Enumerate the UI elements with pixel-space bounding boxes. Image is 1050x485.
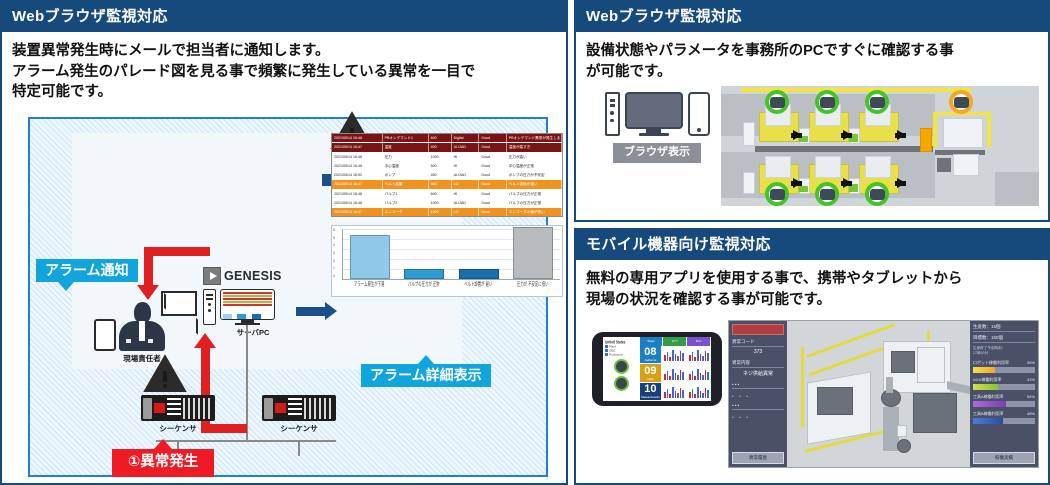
- table-cell: Good: [479, 180, 507, 188]
- table-cell: PBオンデマンド1: [383, 134, 429, 142]
- callout-alarm-detail-label: アラーム詳細表示: [370, 367, 482, 383]
- scada-flow-arrow-1: [793, 130, 802, 140]
- scada-line-view[interactable]: [721, 86, 1039, 206]
- phone-dashboard-pane: WaysQTYRun 08California09Utah10Massachus…: [640, 337, 711, 401]
- scada-status-gauge-6[interactable]: [865, 182, 889, 206]
- table-cell: 2021/05/14 16:46: [332, 199, 383, 207]
- alarm-arrow-up-head: [194, 333, 216, 348]
- table-cell: Good: [479, 171, 507, 179]
- pareto-chart: 6543210 アラーム発生が下落バルブの圧力が 正常ベルト設置が 遅い圧力が …: [331, 225, 563, 297]
- smartphone-mockup[interactable]: Untied States PlantOEEProduction WaysQTY…: [592, 332, 722, 406]
- flow-arrow-to-table: [296, 307, 326, 316]
- callout-red-tail-up: [154, 439, 172, 449]
- right-top-panel: Webブラウザ監視対応 設備状態やパラメータを事務所のPCですぐに確認する事 が…: [574, 0, 1050, 222]
- table-cell: Digital: [452, 134, 480, 142]
- table-cell: ULOAD: [452, 199, 480, 207]
- pareto-y-axis: 6543210: [333, 228, 335, 278]
- pareto-y-tick: 1: [333, 266, 335, 270]
- phone-column-headers: WaysQTYRun: [640, 337, 711, 346]
- safety-rail-top: [807, 323, 895, 358]
- table-cell: ULOAD: [452, 171, 480, 179]
- table-cell: Good: [479, 143, 507, 151]
- server-pc-label: サーバPC: [217, 327, 289, 338]
- table-cell: 温度が高すぎ: [507, 143, 562, 151]
- utilization-metric-label: ロボット稼働利用率36%: [973, 360, 1035, 366]
- utilization-metric-label: 工具A稼働利用率54%: [973, 394, 1035, 400]
- table-row[interactable]: 2021/05/14 16:46バルブ1600HIGoodバルブの圧力が正常: [332, 190, 562, 199]
- table-row[interactable]: 2021/05/14 16:47ベルト設置500LOGoodベルト張設が遅い: [332, 180, 562, 189]
- table-row[interactable]: 2021/05/14 16:48PBオンデマンド1600DigitalGoodP…: [332, 134, 562, 143]
- part-bin: [897, 439, 911, 453]
- table-cell: バルブ2: [383, 199, 429, 207]
- table-cell: バルブ1: [383, 190, 429, 198]
- utilization-progress-bar: [973, 418, 1035, 424]
- pareto-category-label: アラーム発生が下落: [346, 280, 392, 288]
- table-cell: Good: [479, 153, 507, 161]
- alarm-table-rows: 2021/05/14 16:48PBオンデマンド1600DigitalGoodP…: [332, 134, 562, 217]
- phone-mini-bar-chart: [686, 346, 711, 363]
- pareto-y-tick: 4: [333, 243, 335, 247]
- phone-legend-item: Production: [605, 353, 638, 357]
- machine-left-panel: [817, 387, 853, 415]
- table-cell: Good: [479, 208, 507, 216]
- desktop-tower-icon: [605, 92, 620, 136]
- table-cell: Good: [479, 134, 507, 142]
- phone-tile-row[interactable]: 10Massachusetts: [640, 383, 711, 401]
- alarm-row-placeholder-1: • • •: [732, 394, 784, 400]
- phone-mini-bar-chart: [661, 364, 686, 381]
- warning-triangle-icon-1: [146, 359, 184, 392]
- utilization-progress-bar: [973, 401, 1035, 407]
- person-head-icon: [134, 302, 151, 323]
- phone-legend-pane: Untied States PlantOEEProduction: [603, 337, 640, 401]
- table-cell: エンコーダの値が低い: [507, 208, 562, 216]
- network-drop-line-2: [298, 440, 300, 456]
- pareto-bar: [350, 235, 390, 279]
- scada-rail-1: [933, 114, 937, 148]
- phone-mini-bar-chart: [661, 346, 686, 363]
- callout-alarm-detail: アラーム詳細表示: [361, 364, 491, 387]
- alarm-detail-label: 異常内容: [732, 360, 784, 368]
- mobile-phone-icon: [94, 319, 116, 351]
- right-column: Webブラウザ監視対応 設備状態やパラメータを事務所のPCですぐに確認する事 が…: [574, 0, 1050, 485]
- callout-detail-tail-up: [418, 355, 434, 364]
- table-cell: 2021/05/14 16:47: [332, 180, 383, 188]
- phone-tile-row[interactable]: 09Utah: [640, 364, 711, 382]
- workpiece: [897, 425, 907, 437]
- genesis-logo-text: GENESIS: [224, 269, 282, 283]
- scada-right-structure: [995, 172, 1039, 206]
- scada-flow-arrow-3: [897, 130, 906, 140]
- pareto-y-tick: 2: [333, 259, 335, 263]
- table-cell: 2021/05/14 16:46: [332, 190, 383, 198]
- phone-mini-bar-chart: [661, 383, 686, 400]
- utilization-progress-bar: [973, 367, 1035, 373]
- plc-unit-2: [262, 395, 336, 421]
- table-cell: 圧力が高い: [507, 153, 562, 161]
- alarm-table[interactable]: 2021/05/14 16:48PBオンデマンド1600DigitalGoodP…: [331, 133, 563, 217]
- phone-tile-value: 09Utah: [640, 364, 661, 381]
- pareto-y-tick: 0: [333, 274, 335, 278]
- scada-conveyor-main: [755, 146, 933, 152]
- alarm-code-value: 373: [732, 349, 784, 355]
- table-cell: 2021/05/14 16:46: [332, 162, 383, 170]
- table-cell: 1000: [429, 153, 452, 161]
- alarm-arrow-down-head: [137, 285, 159, 300]
- scada-status-gauge-2[interactable]: [815, 90, 839, 114]
- table-row[interactable]: 2021/05/14 16:47温度400ULOADGood温度が高すぎ: [332, 143, 562, 152]
- alarm-arrow-down-stem: [144, 247, 153, 287]
- table-cell: Good: [479, 190, 507, 198]
- monitor-display-icon: [625, 92, 683, 136]
- robot-arm-column: [886, 377, 893, 393]
- factory-3d-canvas[interactable]: [787, 321, 970, 467]
- table-cell: Good: [479, 162, 507, 170]
- alarm-row-placeholder-2: • • •: [732, 415, 784, 421]
- email-envelope-icon: [161, 291, 197, 316]
- table-row[interactable]: 2021/05/14 16:47エンコーダ1000LOGoodエンコーダの値が低…: [332, 208, 562, 217]
- table-cell: ポンプ: [383, 171, 429, 179]
- table-cell: 2021/05/14 16:47: [332, 143, 383, 151]
- alarm-code-label: 異常コード: [732, 339, 784, 347]
- table-cell: 圧力: [383, 153, 429, 161]
- table-cell: 温度: [383, 143, 429, 151]
- scada-pallet-4: [743, 172, 755, 194]
- table-cell: 1000: [429, 199, 452, 207]
- scada-flow-arrow-4: [793, 178, 802, 188]
- alarm-detail-value: ネジ供給異常: [732, 370, 784, 377]
- equipment-box-right[interactable]: [913, 393, 957, 433]
- scada-pallet-1: [743, 122, 755, 146]
- server-tower-icon: [203, 289, 216, 325]
- person-body-icon: [119, 321, 165, 351]
- scada-flow-arrow-2: [843, 130, 852, 140]
- pareto-y-tick: 5: [333, 236, 335, 240]
- table-cell: PBオンデマンド異常が発生しました: [507, 134, 562, 142]
- scada-output-tank: [920, 128, 932, 152]
- left-panel-body: 装置異常発生時にメールで担当者に通知します。 アラーム発生のパレード図を見る事で…: [2, 32, 566, 483]
- safety-rail-left: [801, 346, 804, 428]
- callout-alarm-notify: アラーム通知: [36, 259, 138, 282]
- callout-fault-label: ①異常発生: [128, 454, 198, 470]
- phone-tile-value: 08California: [640, 346, 661, 363]
- scada-status-gauge-3[interactable]: [865, 90, 889, 114]
- table-cell: 中心温度が正常: [507, 162, 562, 170]
- scada-flow-arrow-6: [897, 178, 906, 188]
- table-cell: ULOAD: [452, 143, 480, 151]
- genesis-logo: GENESIS: [203, 267, 289, 285]
- operation-status-button[interactable]: 稼働実績: [973, 452, 1035, 464]
- table-row[interactable]: 2021/05/14 16:46圧力1000HIGood圧力が高い: [332, 153, 562, 162]
- factory-3d-view[interactable]: 異常コード 373 異常内容 ネジ供給異常 • • • • • • • • • …: [728, 320, 1039, 468]
- table-cell: 2021/05/14 16:52: [332, 171, 383, 179]
- plc-label-1: シーケンサ: [141, 423, 215, 434]
- factory-metrics-sidebar: 生産数：15個 目標数：150個 生産終了予定時刻： 17時00分 ロボット稼働…: [970, 321, 1038, 467]
- phone-mini-bar-chart: [686, 383, 711, 400]
- scada-status-gauge-4[interactable]: [765, 182, 789, 206]
- right-top-panel-description: 設備状態やパラメータを事務所のPCですぐに確認する事 が可能です。: [576, 32, 1048, 86]
- scada-machine-5-body: [815, 156, 841, 178]
- pareto-plot-area: [342, 229, 560, 280]
- server-pc-icons: [203, 289, 289, 325]
- table-cell: LO: [452, 208, 480, 216]
- play-triangle-icon: [203, 267, 221, 285]
- cnc-machine-spindle: [891, 351, 915, 373]
- table-cell: HI: [452, 190, 480, 198]
- table-cell: 2021/05/14 16:48: [332, 134, 383, 142]
- monitor-icon: [220, 289, 275, 325]
- pareto-y-tick: 6: [333, 228, 335, 232]
- phone-gauge-1: [614, 359, 629, 374]
- table-cell: 600: [429, 190, 452, 198]
- phone-column-header: Run: [687, 337, 711, 346]
- site-manager-figure: 現場責任者: [118, 302, 166, 362]
- plc-label-2: シーケンサ: [262, 423, 336, 434]
- left-panel: Webブラウザ監視対応 装置異常発生時にメールで担当者に通知します。 アラーム発…: [0, 0, 568, 485]
- pareto-y-tick: 3: [333, 251, 335, 255]
- table-cell: 400: [429, 143, 452, 151]
- table-cell: エンコーダ: [383, 208, 429, 216]
- production-end-note: 生産終了予定時刻： 17時00分: [973, 346, 1035, 355]
- right-top-panel-header: Webブラウザ監視対応: [576, 2, 1048, 32]
- right-bottom-panel: モバイル機器向け監視対応 無料の専用アプリを使用する事で、携帯やタブレットから …: [574, 228, 1050, 485]
- alarm-row-divider-1: • • •: [732, 382, 784, 389]
- scada-cell-machine-b: [953, 154, 979, 176]
- phone-mini-bar-chart: [686, 364, 711, 381]
- alarm-history-button[interactable]: 異常履歴: [732, 452, 784, 464]
- phone-tile-list: 08California09Utah10Massachusetts: [640, 346, 711, 401]
- table-cell: ベルト張設が遅い: [507, 180, 562, 188]
- table-cell: バルブの圧力が正常: [507, 190, 562, 198]
- right-bottom-panel-body: 無料の専用アプリを使用する事で、携帯やタブレットから 現場の状況を確認する事が可…: [576, 260, 1048, 483]
- table-cell: 450: [429, 171, 452, 179]
- callout-tail-down: [58, 282, 74, 291]
- utilization-metric-label: AGV稼働利用率41%: [973, 377, 1035, 383]
- scada-machine-4-body: [765, 156, 791, 178]
- alarm-flow-diagram: GENESIS: [28, 117, 548, 477]
- table-cell: 500: [429, 162, 452, 170]
- tablet-icon: [688, 92, 710, 136]
- right-bottom-panel-description: 無料の専用アプリを使用する事で、携帯やタブレットから 現場の状況を確認する事が可…: [576, 260, 1048, 314]
- phone-legend-title: Untied States: [605, 339, 638, 345]
- alarm-row-divider-2: • • •: [732, 403, 784, 410]
- table-row[interactable]: 2021/05/14 16:52ポンプ450ULOADGoodポンプの圧力が不安…: [332, 171, 562, 180]
- phone-tile-value: 10Massachusetts: [640, 383, 661, 400]
- pareto-category-label: バルブの圧力が 正常: [401, 280, 447, 288]
- left-panel-header: Webブラウザ監視対応: [2, 2, 566, 32]
- scada-cell-robot: [937, 158, 951, 172]
- pareto-bar: [459, 269, 499, 279]
- table-cell: 2021/05/14 16:47: [332, 208, 383, 216]
- phone-screen[interactable]: Untied States PlantOEEProduction WaysQTY…: [603, 337, 711, 401]
- cnc-machine-side: [917, 347, 945, 383]
- table-cell: 中心温度: [383, 162, 429, 170]
- phone-column-header: Ways: [640, 337, 664, 346]
- table-cell: 2021/05/14 16:46: [332, 153, 383, 161]
- pareto-x-labels: アラーム発生が下落バルブの圧力が 正常ベルト設置が 遅い圧力が 不安定に低い: [342, 281, 560, 286]
- alarm-banner: [732, 324, 784, 335]
- browser-display-button[interactable]: ブラウザ表示: [613, 143, 701, 163]
- callout-alarm-notify-label: アラーム通知: [45, 262, 129, 278]
- table-row[interactable]: 2021/05/14 16:46バルブ21000ULOADGoodバルブの圧力が…: [332, 199, 562, 208]
- phone-gauge-group: [605, 359, 638, 391]
- utilization-metric-label: 工具B稼働利用率48%: [973, 411, 1035, 417]
- device-icon-row: [598, 92, 716, 136]
- network-horizontal-line: [156, 440, 336, 442]
- pareto-bar: [404, 269, 444, 279]
- plc-unit-1: [141, 395, 215, 421]
- scada-flow-arrow-5: [843, 178, 852, 188]
- factory-alarm-sidebar: 異常コード 373 異常内容 ネジ供給異常 • • • • • • • • • …: [729, 321, 787, 467]
- device-icon-group: ブラウザ表示: [598, 92, 716, 163]
- target-count-label: 目標数：150個: [973, 335, 1035, 343]
- scada-status-gauge-1[interactable]: [765, 90, 789, 114]
- scada-status-gauge-5[interactable]: [815, 182, 839, 206]
- phone-column-header: QTY: [663, 337, 687, 346]
- phone-tile-row[interactable]: 08California: [640, 346, 711, 364]
- alarm-arrow-down-shaft: [144, 247, 210, 256]
- exclamation-mark-icon: [163, 371, 167, 382]
- scada-machine-6-body: [865, 156, 891, 178]
- table-cell: Good: [479, 199, 507, 207]
- scada-cell-machine-a: [943, 118, 983, 148]
- right-top-panel-body: 設備状態やパラメータを事務所のPCですぐに確認する事 が可能です。: [576, 32, 1048, 220]
- left-panel-description: 装置異常発生時にメールで担当者に通知します。 アラーム発生のパレード図を見る事で…: [2, 32, 566, 107]
- utilization-metric-list: ロボット稼働利用率36%AGV稼働利用率41%工具A稼働利用率54%工具B稼働利…: [973, 360, 1035, 428]
- table-cell: ベルト設置: [383, 180, 429, 188]
- table-cell: ポンプの圧力が不安定: [507, 171, 562, 179]
- production-count-label: 生産数：15個: [973, 324, 1035, 332]
- scada-status-gauge-warning[interactable]: [949, 90, 973, 114]
- table-cell: 500: [429, 180, 452, 188]
- table-cell: 600: [429, 134, 452, 142]
- phone-gauge-2: [614, 376, 629, 391]
- table-cell: LO: [452, 180, 480, 188]
- table-cell: バルブの圧力が正常: [507, 199, 562, 207]
- table-cell: HI: [452, 162, 480, 170]
- utilization-progress-bar: [973, 384, 1035, 390]
- table-cell: 1000: [429, 208, 452, 216]
- table-cell: HI: [452, 153, 480, 161]
- scada-rail-2: [987, 114, 991, 148]
- callout-fault-occurred: ①異常発生: [112, 449, 214, 477]
- slide-root: Webブラウザ監視対応 装置異常発生時にメールで担当者に通知します。 アラーム発…: [0, 0, 1050, 485]
- pareto-category-label: ベルト設置が 遅い: [455, 280, 501, 288]
- pareto-bar: [513, 227, 553, 279]
- pareto-category-label: 圧力が 不安定に低い: [510, 280, 556, 288]
- table-row[interactable]: 2021/05/14 16:46中心温度500HIGood中心温度が正常: [332, 162, 562, 171]
- right-bottom-panel-header: モバイル機器向け監視対応: [576, 230, 1048, 260]
- phone-legend-list: PlantOEEProduction: [605, 345, 638, 357]
